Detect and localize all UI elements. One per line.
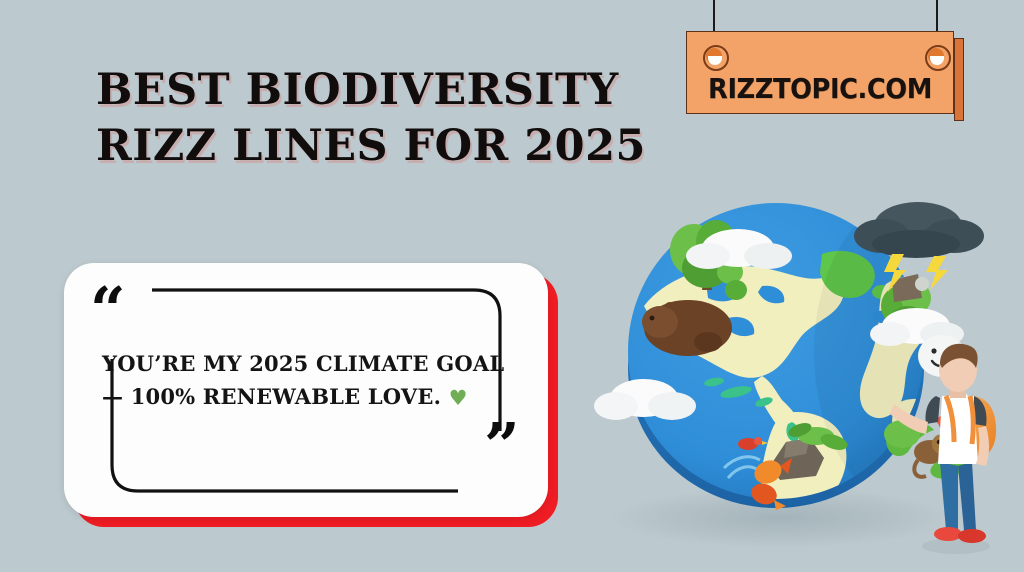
quote-text: YOU’RE MY 2025 CLIMATE GOAL — 100% RENEW… (102, 347, 514, 414)
sign-side-panel (954, 38, 964, 121)
poster-canvas: BEST BIODIVERSITY RIZZ LINES FOR 2025 RI… (0, 0, 1024, 572)
sign-face: RIZZTOPIC.COM (686, 31, 954, 114)
close-quote-mark: ” (484, 415, 520, 477)
page-title-line-2: RIZZ LINES FOR 2025 (96, 118, 656, 174)
page-title-line-1: BEST BIODIVERSITY (96, 62, 656, 118)
site-logo-text: RIZZTOPIC.COM (698, 72, 943, 105)
quote-text-line-1: YOU’RE MY 2025 CLIMATE GOAL (102, 351, 504, 376)
site-logo-sign[interactable]: RIZZTOPIC.COM (686, 31, 964, 114)
ring-grommet-icon-right (925, 45, 951, 71)
quote-text-line-2: — 100% RENEWABLE LOVE. (102, 384, 441, 409)
open-quote-mark: “ (90, 279, 126, 341)
ring-grommet-icon-left (703, 45, 729, 71)
person-shoe-right (958, 529, 986, 543)
quote-card: “ ” YOU’RE MY 2025 CLIMATE GOAL — 100% R… (64, 263, 548, 517)
person-shoe-left (934, 527, 962, 541)
lightning-bolt-icon-2 (926, 256, 948, 290)
person-sleeve-left (925, 396, 940, 424)
person-leg-right (958, 462, 976, 530)
page-title: BEST BIODIVERSITY RIZZ LINES FOR 2025 (96, 62, 656, 174)
green-heart-icon: ♥ (449, 381, 468, 414)
earth-biodiversity-illustration (586, 186, 1016, 566)
